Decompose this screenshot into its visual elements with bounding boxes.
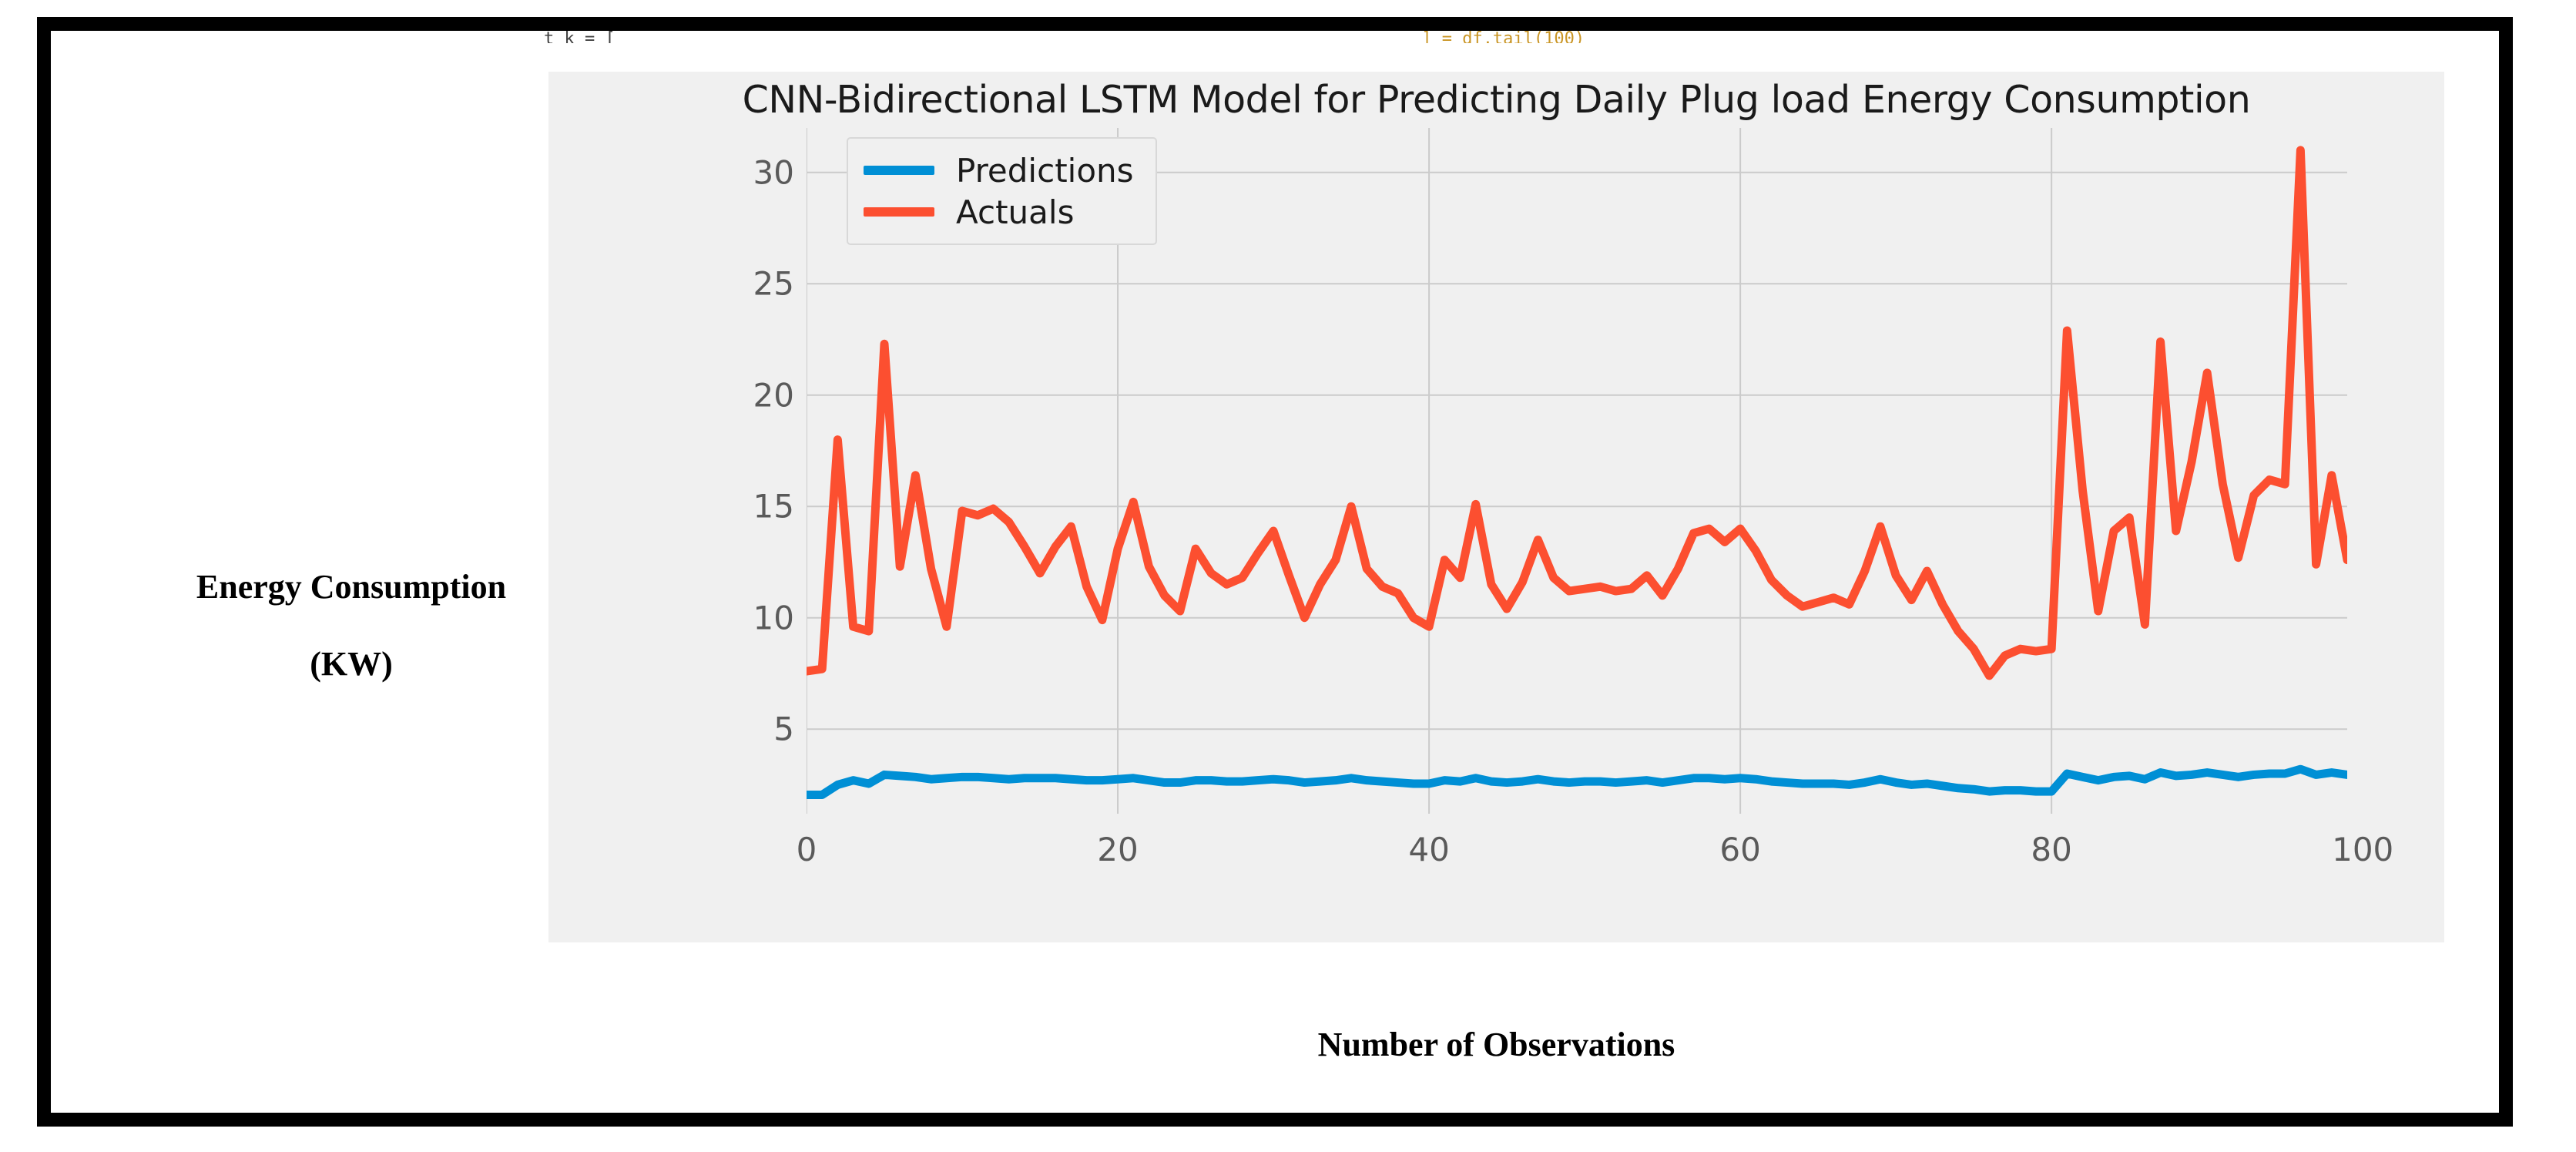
legend-item-label: Predictions [956, 152, 1134, 190]
y-axis-tick-label: 20 [753, 376, 794, 414]
x-axis-tick-label: 60 [1719, 831, 1760, 868]
legend-swatch-icon [864, 166, 934, 175]
y-axis-label-line1: Energy Consumption [136, 570, 567, 604]
legend-swatch-icon [864, 207, 934, 217]
x-axis-tick-label: 40 [1408, 831, 1449, 868]
chart-title: CNN-Bidirectional LSTM Model for Predict… [548, 78, 2444, 122]
x-axis-tick-label: 0 [797, 831, 817, 868]
y-axis-tick-label: 10 [753, 599, 794, 636]
y-axis-tick-label: 15 [753, 488, 794, 526]
y-axis-label: Energy Consumption (KW) [136, 570, 567, 681]
x-axis-tick-label: 100 [2332, 831, 2393, 868]
x-axis-label: Number of Observations [548, 1025, 2444, 1064]
y-axis-tick-label: 5 [773, 710, 794, 748]
code-fragment-left: t_k = [ [544, 31, 615, 43]
y-axis-tick-label: 25 [753, 265, 794, 303]
x-axis-tick-label: 20 [1097, 831, 1138, 868]
legend-item-actuals[interactable]: Actuals [864, 191, 1134, 233]
clipped-code-text: t_k = [ ] = df.tail(100) [544, 31, 1622, 43]
chart-legend[interactable]: PredictionsActuals [847, 137, 1157, 245]
y-axis-tick-label: 30 [753, 153, 794, 191]
matplotlib-figure: CNN-Bidirectional LSTM Model for Predict… [548, 72, 2444, 942]
x-axis-tick-label: 80 [2031, 831, 2071, 868]
y-axis-label-line2: (KW) [136, 647, 567, 681]
page-border-frame: t_k = [ ] = df.tail(100) CNN-Bidirection… [37, 17, 2513, 1127]
chart-axes: PredictionsActuals 510152025300204060801… [807, 128, 2347, 814]
code-fragment-right: ] = df.tail(100) [1421, 31, 1585, 43]
legend-item-predictions[interactable]: Predictions [864, 149, 1134, 191]
legend-item-label: Actuals [956, 193, 1074, 231]
